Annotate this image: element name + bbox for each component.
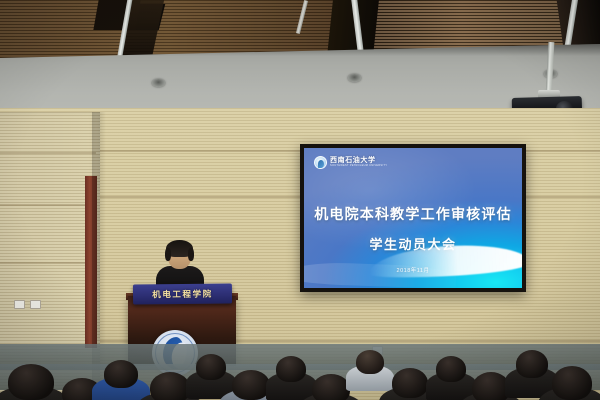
audience-member-head	[312, 374, 350, 400]
wall-outlet[interactable]	[30, 300, 41, 309]
auditorium-photo: 西南石油大学 SOUTHWEST PETROLEUM UNIVERSITY 机电…	[0, 0, 600, 400]
presenter-hair-side	[165, 248, 171, 261]
audience-member-head	[232, 370, 270, 400]
audience-member-head	[552, 366, 592, 400]
university-emblem-icon	[314, 156, 327, 169]
wall-outlet[interactable]	[14, 300, 25, 309]
wall-seam	[0, 262, 96, 264]
downlight-icon	[152, 79, 165, 87]
audience-member-head	[356, 350, 384, 374]
presenter-hair-side	[188, 248, 194, 261]
audience-member-head	[516, 350, 548, 378]
ceiling-beam	[557, 0, 600, 48]
audience-member-head	[196, 354, 226, 380]
wall-seam	[0, 152, 96, 154]
lectern-banner: 机电工程学院	[133, 283, 232, 304]
audience-member-head	[104, 360, 138, 388]
audience-area	[0, 320, 600, 400]
audience-member-head	[392, 368, 428, 398]
audience-member-head	[276, 356, 306, 382]
slide-surface: 西南石油大学 SOUTHWEST PETROLEUM UNIVERSITY 机电…	[304, 148, 522, 288]
wall-seam	[0, 204, 96, 206]
university-logo: 西南石油大学 SOUTHWEST PETROLEUM UNIVERSITY	[314, 156, 387, 169]
audience-member-head	[8, 364, 54, 400]
downlight-icon	[348, 74, 361, 82]
audience-member-head	[436, 356, 466, 382]
lectern-banner-text: 机电工程学院	[152, 288, 213, 301]
projection-screen[interactable]: 西南石油大学 SOUTHWEST PETROLEUM UNIVERSITY 机电…	[300, 144, 526, 292]
university-name-en: SOUTHWEST PETROLEUM UNIVERSITY	[330, 164, 387, 167]
audience-member-head	[150, 372, 190, 400]
slide-title: 机电院本科教学工作审核评估	[304, 204, 522, 224]
